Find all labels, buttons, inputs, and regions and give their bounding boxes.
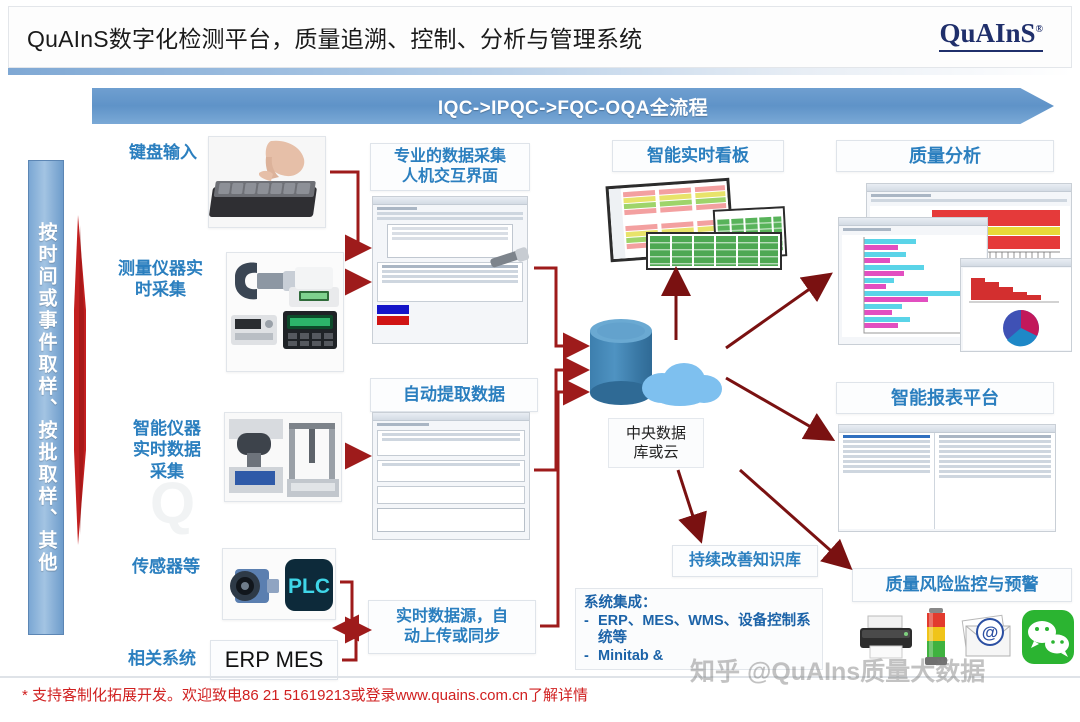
hmi-chart-line xyxy=(392,227,508,230)
flow-banner-label: IQC->IPQC->FQC-OQA全流程 xyxy=(438,93,708,120)
system-integration-bullet-2-text: Minitab & xyxy=(598,648,663,666)
report-platform-screenshot xyxy=(838,424,1056,532)
quality-analysis-caption: 质量分析 xyxy=(836,140,1054,172)
smart-instrument-photo xyxy=(224,412,342,502)
system-integration-title: 系统集成： xyxy=(584,595,814,613)
printer-icon xyxy=(856,612,918,664)
rp-list-row xyxy=(843,465,930,468)
auto-extract-screenshot xyxy=(372,412,530,540)
extract-line xyxy=(382,463,520,466)
extract-input xyxy=(377,508,525,532)
qa3-titlebar xyxy=(961,259,1071,267)
input-label-measuring-instrument: 测量仪器实 时采集 xyxy=(98,258,223,301)
rp-list-pane xyxy=(839,433,935,529)
flow-banner: IQC->IPQC->FQC-OQA全流程 xyxy=(92,88,1054,124)
hmi-caption: 专业的数据采集 人机交互界面 xyxy=(370,143,530,191)
cloud-icon xyxy=(640,358,724,406)
header-divider xyxy=(8,68,1072,75)
output-channel-icons: @ xyxy=(856,606,1072,672)
input-label-related-system: 相关系统 xyxy=(110,648,214,669)
hmi-status-cells-2 xyxy=(377,316,523,325)
input-label-smart-instrument: 智能仪器 实时数据 采集 xyxy=(118,418,216,482)
system-integration-bullet-1: - ERP、MES、WMS、设备控制系统等 xyxy=(584,613,814,648)
rp-list-row xyxy=(843,455,930,458)
central-database-label: 中央数据 库或云 xyxy=(608,418,704,468)
realtime-source-caption-text: 实时数据源，自 动上传或同步 xyxy=(396,607,508,647)
central-database-label-text: 中央数据 库或云 xyxy=(626,424,686,463)
extract-block-3 xyxy=(377,486,525,504)
extract-block-2 xyxy=(377,460,525,482)
sensor-plc-image: PLC xyxy=(223,549,336,620)
hmi-table-row xyxy=(382,280,518,283)
brand-logo-registered: ® xyxy=(1036,24,1043,35)
rp-list-row xyxy=(843,460,930,463)
page-title: QuAInS数字化检测平台，质量追溯、控制、分析与管理系统 xyxy=(27,20,642,54)
rp-list-row xyxy=(843,440,930,443)
hmi-row xyxy=(377,217,523,220)
rp-preview-row xyxy=(939,460,1051,463)
extract-block-1 xyxy=(377,430,525,456)
wechat-icon xyxy=(1020,608,1076,666)
input-label-measuring-instrument-text: 测量仪器实 时采集 xyxy=(118,259,203,299)
rp-titlebar xyxy=(839,425,1055,433)
qa-titlebar xyxy=(867,184,1071,192)
sampling-band: 按时间或事件取样、按批取样、其他 xyxy=(28,160,64,635)
qa-row xyxy=(871,194,931,197)
hmi-caption-text: 专业的数据采集 人机交互界面 xyxy=(394,147,506,187)
andon-light-icon xyxy=(918,606,954,668)
hmi-menu-row xyxy=(377,207,417,210)
rp-preview-row xyxy=(939,470,1051,473)
extract-row xyxy=(377,423,429,426)
keyboard-image xyxy=(209,137,326,228)
rp-preview-row xyxy=(939,475,1051,478)
extract-line xyxy=(382,433,520,436)
dashboard-monitor-3 xyxy=(646,232,782,270)
bullet-mark: - xyxy=(584,613,592,648)
keyboard-photo xyxy=(208,136,326,228)
realtime-source-caption: 实时数据源，自 动上传或同步 xyxy=(368,600,536,654)
email-icon: @ xyxy=(958,612,1018,664)
system-integration-bullet-1-text: ERP、MES、WMS、设备控制系统等 xyxy=(598,613,814,648)
auto-extract-caption: 自动提取数据 xyxy=(370,378,538,412)
report-platform-caption: 智能报表平台 xyxy=(836,382,1054,414)
footer-note: * 支持客制化拓展开发。欢迎致电86 21 51619213或登录www.qua… xyxy=(22,684,588,705)
rp-list-row-selected xyxy=(843,435,930,438)
brand-logo: QuAInS® xyxy=(939,19,1043,52)
erp-mes-box: ERP MES xyxy=(210,640,338,680)
hmi-row xyxy=(377,212,523,215)
hmi-status-cells xyxy=(377,305,523,314)
brand-logo-text: QuAInS xyxy=(939,18,1035,48)
kanban-grid-3 xyxy=(648,234,780,268)
risk-monitor-caption: 质量风险监控与预警 xyxy=(852,568,1072,602)
rp-preview-row xyxy=(939,445,1051,448)
system-integration-box: 系统集成： - ERP、MES、WMS、设备控制系统等 - Minitab & xyxy=(575,588,823,670)
knowledge-base-caption: 持续改善知识库 xyxy=(672,545,818,577)
sampling-band-label: 按时间或事件取样、按批取样、其他 xyxy=(33,222,60,574)
extract-titlebar xyxy=(373,413,529,421)
rp-preview-row xyxy=(939,440,1051,443)
sensor-photo: PLC xyxy=(222,548,336,620)
hmi-titlebar xyxy=(373,197,527,205)
measuring-instrument-photo xyxy=(226,252,344,372)
hmi-chart-line xyxy=(392,232,508,235)
svg-text:PLC: PLC xyxy=(288,575,330,598)
input-label-sensor: 传感器等 xyxy=(116,556,216,577)
extract-line xyxy=(382,438,520,441)
rp-list-row xyxy=(843,450,930,453)
rp-preview-row xyxy=(939,450,1051,453)
qa2-titlebar xyxy=(839,218,987,226)
status-cell-blue xyxy=(377,305,409,314)
rp-preview-header xyxy=(939,435,1051,438)
page-header: QuAInS数字化检测平台，质量追溯、控制、分析与管理系统 QuAInS® xyxy=(8,6,1072,68)
rp-preview-pane xyxy=(935,433,1055,529)
rp-list-row xyxy=(843,445,930,448)
rp-preview-row xyxy=(939,465,1051,468)
dashboard-caption: 智能实时看板 xyxy=(612,140,784,172)
cmm-image xyxy=(225,413,342,502)
quality-analysis-screenshot-3 xyxy=(960,258,1072,352)
bullet-mark-2: - xyxy=(584,648,592,666)
measuring-instrument-image xyxy=(227,253,344,372)
rp-list-row xyxy=(843,470,930,473)
qa-row xyxy=(871,199,1067,202)
sampling-direction-arrow xyxy=(68,215,92,545)
rp-preview-row xyxy=(939,455,1051,458)
svg-text:@: @ xyxy=(982,623,999,642)
footer-divider xyxy=(0,676,1080,678)
qa2-row xyxy=(843,228,891,231)
rp-body xyxy=(839,433,1055,529)
qa-histogram-pie xyxy=(963,268,1071,350)
system-integration-bullet-2: - Minitab & xyxy=(584,648,814,666)
input-label-keyboard: 键盘输入 xyxy=(108,142,218,163)
caliper-prop-icon xyxy=(486,238,532,278)
input-label-smart-instrument-text: 智能仪器 实时数据 采集 xyxy=(133,419,201,481)
status-cell-red xyxy=(377,316,409,325)
